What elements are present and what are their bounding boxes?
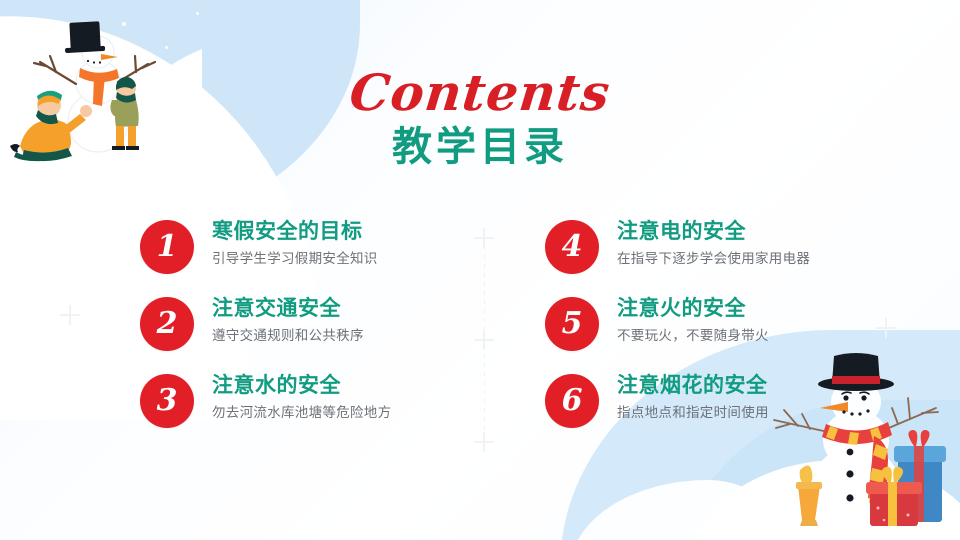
item-title: 注意水的安全: [212, 373, 391, 398]
contents-item-5[interactable]: 5 注意火的安全 不要玩火，不要随身带火: [545, 295, 900, 351]
contents-item-4[interactable]: 4 注意电的安全 在指导下逐步学会使用家用电器: [545, 218, 900, 274]
item-number-badge: 6: [545, 374, 599, 428]
item-text-block: 注意火的安全 不要玩火，不要随身带火: [617, 295, 769, 345]
item-text-block: 注意交通安全 遵守交通规则和公共秩序: [212, 295, 364, 345]
item-text-block: 寒假安全的目标 引导学生学习假期安全知识: [212, 218, 378, 268]
item-title: 注意交通安全: [212, 296, 364, 321]
item-text-block: 注意水的安全 勿去河流水库池塘等危险地方: [212, 372, 391, 422]
item-number-badge: 5: [545, 297, 599, 351]
contents-list: 1 寒假安全的目标 引导学生学习假期安全知识 4 注意电的安全 在指导下逐步学会…: [140, 218, 900, 428]
decorative-cross: [60, 305, 80, 325]
item-title: 寒假安全的目标: [212, 219, 378, 244]
item-subtitle: 在指导下逐步学会使用家用电器: [617, 250, 810, 268]
item-number-badge: 1: [140, 220, 194, 274]
contents-item-6[interactable]: 6 注意烟花的安全 指点地点和指定时间使用: [545, 372, 900, 428]
contents-item-3[interactable]: 3 注意水的安全 勿去河流水库池塘等危险地方: [140, 372, 495, 428]
item-subtitle: 指点地点和指定时间使用: [617, 404, 769, 422]
page-title-english: Contents: [347, 68, 612, 118]
item-title: 注意火的安全: [617, 296, 769, 321]
page-title-chinese: 教学目录: [0, 126, 960, 168]
slide-header: Contents 教学目录: [0, 68, 960, 168]
item-text-block: 注意烟花的安全 指点地点和指定时间使用: [617, 372, 769, 422]
item-number-badge: 4: [545, 220, 599, 274]
contents-item-1[interactable]: 1 寒假安全的目标 引导学生学习假期安全知识: [140, 218, 495, 274]
slide-canvas: Contents 教学目录 1 寒假安全的目标 引导学生学习假期安全知识 4 注…: [0, 0, 960, 540]
item-text-block: 注意电的安全 在指导下逐步学会使用家用电器: [617, 218, 810, 268]
item-subtitle: 不要玩火，不要随身带火: [617, 327, 769, 345]
item-subtitle: 勿去河流水库池塘等危险地方: [212, 404, 391, 422]
item-number-badge: 3: [140, 374, 194, 428]
item-subtitle: 引导学生学习假期安全知识: [212, 250, 378, 268]
item-title: 注意烟花的安全: [617, 373, 769, 398]
contents-item-2[interactable]: 2 注意交通安全 遵守交通规则和公共秩序: [140, 295, 495, 351]
item-number-badge: 2: [140, 297, 194, 351]
decorative-cross: [474, 432, 494, 452]
item-subtitle: 遵守交通规则和公共秩序: [212, 327, 364, 345]
item-title: 注意电的安全: [617, 219, 810, 244]
